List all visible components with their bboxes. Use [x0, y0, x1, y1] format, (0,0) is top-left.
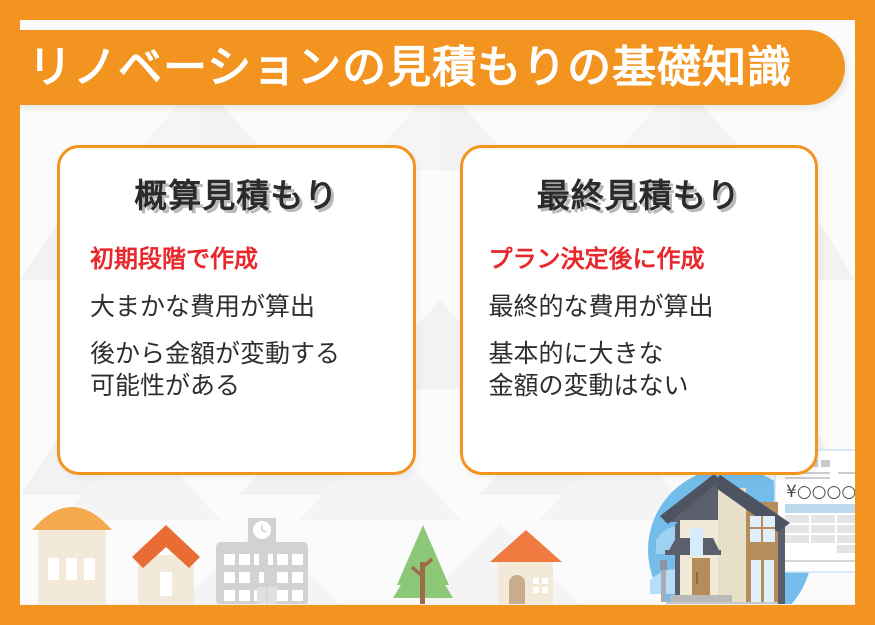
- card-final-estimate: 最終見積もり プラン決定後に作成 最終的な費用が算出 基本的に大きな 金額の変動…: [460, 145, 819, 475]
- title-banner: リノベーションの見積もりの基礎知識: [0, 30, 845, 105]
- card-line-final-2a: 基本的に大きな: [489, 338, 796, 371]
- poster-canvas: ¥○○○○○: [0, 0, 875, 625]
- card-line-rough-2b: 可能性がある: [90, 370, 393, 403]
- card-line-final-1: 最終的な費用が算出: [489, 291, 796, 324]
- page-title: リノベーションの見積もりの基礎知識: [28, 46, 792, 90]
- card-accent-line-final: プラン決定後に作成: [489, 244, 796, 275]
- card-line-final-2b: 金額の変動はない: [489, 370, 796, 403]
- small-house-orange-roof: [132, 525, 200, 605]
- card-heading-final: 最終見積もり: [483, 178, 796, 214]
- document-amount-text: ¥○○○○○: [786, 482, 855, 502]
- school-building-with-clock: [216, 518, 308, 605]
- card-accent-line-rough: 初期段階で作成: [90, 244, 393, 275]
- card-rough-estimate: 概算見積もり 初期段階で作成 大まかな費用が算出 後から金額が変動する 可能性が…: [57, 145, 416, 475]
- frame-border-right: [855, 0, 875, 625]
- card-line-rough-2a: 後から金額が変動する: [90, 338, 393, 371]
- dome-building: [32, 507, 112, 605]
- frame-border-bottom: [0, 605, 875, 625]
- card-line-rough-1: 大まかな費用が算出: [90, 291, 393, 324]
- frame-border-left: [0, 0, 20, 625]
- card-line-final-2: 基本的に大きな 金額の変動はない: [489, 338, 796, 403]
- conifer-tree: [393, 525, 453, 605]
- card-body-rough: 初期段階で作成 大まかな費用が算出 後から金額が変動する 可能性がある: [80, 244, 393, 403]
- cards-row: 概算見積もり 初期段階で作成 大まかな費用が算出 後から金額が変動する 可能性が…: [0, 145, 875, 475]
- card-line-rough-2: 後から金額が変動する 可能性がある: [90, 338, 393, 403]
- card-body-final: プラン決定後に作成 最終的な費用が算出 基本的に大きな 金額の変動はない: [483, 244, 796, 403]
- frame-border-top: [0, 0, 875, 20]
- card-heading-rough: 概算見積もり: [80, 178, 393, 214]
